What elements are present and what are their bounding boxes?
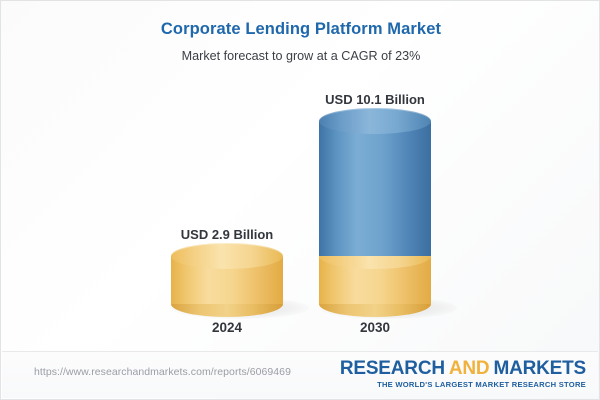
category-label-2024: 2024 <box>147 319 307 337</box>
bar-2030-body <box>319 121 431 256</box>
brand-name: RESEARCHANDMARKETS <box>340 358 586 379</box>
bar-2024-top-cap <box>171 243 283 269</box>
bar-2024-segment <box>171 256 283 304</box>
bar-2030-top-cap <box>319 108 431 134</box>
bar-value-label-2024: USD 2.9 Billion <box>127 227 327 243</box>
research-and-markets-logo[interactable]: RESEARCHANDMARKETS THE WORLD'S LARGEST M… <box>340 358 586 390</box>
footer: https://www.researchandmarkets.com/repor… <box>2 351 598 398</box>
brand-word-research: RESEARCH <box>340 358 445 379</box>
bar-2030[interactable] <box>319 121 431 304</box>
category-label-2030: 2030 <box>295 319 455 337</box>
bar-2030-base-segment <box>319 256 431 304</box>
brand-word-markets: MARKETS <box>493 358 586 379</box>
source-url-link[interactable]: https://www.researchandmarkets.com/repor… <box>34 366 291 378</box>
market-forecast-infographic: Corporate Lending Platform Market Market… <box>0 0 600 400</box>
chart-title: Corporate Lending Platform Market <box>1 19 600 39</box>
brand-tagline: THE WORLD'S LARGEST MARKET RESEARCH STOR… <box>340 380 586 390</box>
brand-word-and: AND <box>449 358 490 379</box>
chart-header: Corporate Lending Platform Market Market… <box>1 19 600 64</box>
bar-value-label-2030: USD 10.1 Billion <box>275 92 475 108</box>
bar-2030-top-segment <box>319 121 431 256</box>
chart-subtitle: Market forecast to grow at a CAGR of 23% <box>1 48 600 64</box>
chart-plot-area: USD 2.9 Billion USD 10.1 Billion 2024 20… <box>1 85 600 347</box>
bar-2024[interactable] <box>171 256 283 304</box>
